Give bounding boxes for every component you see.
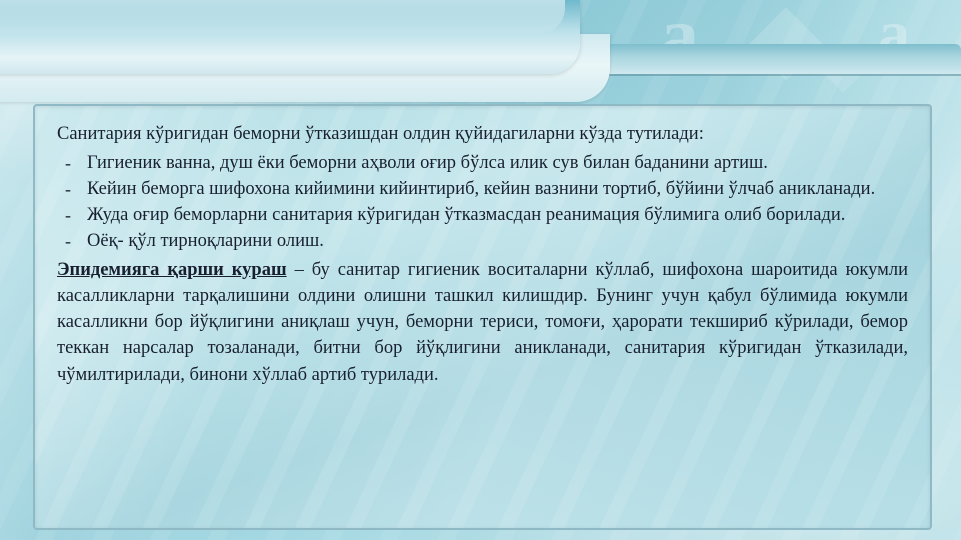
bullet-dash-icon: - [65,229,71,253]
intro-line: Санитария кўригидан беморни ўтказишдан о… [57,123,908,147]
bullet-dash-icon: - [65,203,71,227]
list-item: - Оёқ- қўл тирноқларини олиш. [57,229,908,254]
body-paragraph: Эпидемияга қарши кураш – бу санитар гиги… [57,257,908,388]
list-item-text: Жуда оғир беморларни санитария кўригидан… [87,205,845,225]
list-item-text: Оёқ- қўл тирноқларини олиш. [87,231,324,251]
content-panel: Санитария кўригидан беморни ўтказишдан о… [33,104,932,530]
list-item: - Кейин беморга шифохона кийимини кийинт… [57,177,908,202]
list-item: - Гигиеник ванна, душ ёки беморни аҳволи… [57,151,908,176]
panel-content: Санитария кўригидан беморни ўтказишдан о… [35,106,930,388]
bullet-dash-icon: - [65,177,71,201]
banner-gloss-highlight [0,0,565,34]
bullet-list: - Гигиеник ванна, душ ёки беморни аҳволи… [57,151,908,254]
paragraph-lead-term: Эпидемияга қарши кураш [57,260,287,280]
list-item: - Жуда оғир беморларни санитария кўригид… [57,203,908,228]
bullet-dash-icon: - [65,151,71,175]
banner-tail-bar [575,44,961,74]
slide-canvas: a a a Санитария кўригидан беморни ўткази… [0,0,961,540]
banner-divider-line [575,74,961,76]
list-item-text: Гигиеник ванна, душ ёки беморни аҳволи о… [87,153,768,173]
list-item-text: Кейин беморга шифохона кийимини кийинтир… [87,179,875,199]
